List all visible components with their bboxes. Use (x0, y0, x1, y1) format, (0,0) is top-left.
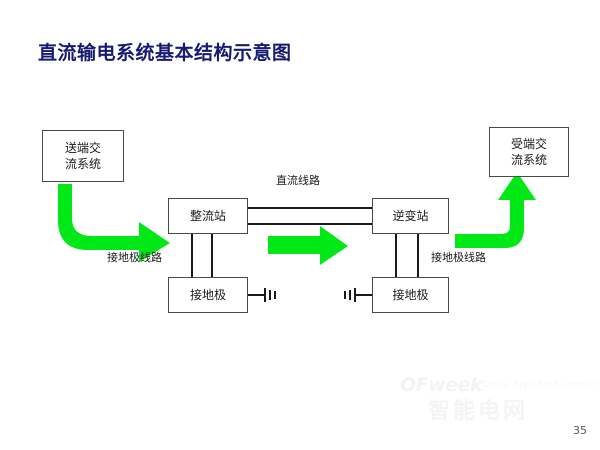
slide-canvas: 直流输电系统基本结构示意图 (0, 0, 600, 450)
box-receiving-ac-system-line1: 受端交 (511, 136, 547, 152)
label-ground-line-left: 接地极线路 (107, 249, 162, 265)
box-rectifier-station[interactable]: 整流站 (168, 198, 248, 234)
box-sending-ac-system-line2: 流系统 (65, 156, 101, 172)
page-number: 35 (573, 424, 587, 437)
box-rectifier-station-label: 整流站 (190, 208, 226, 224)
box-receiving-ac-system[interactable]: 受端交 流系统 (489, 127, 569, 177)
box-ground-electrode-right-label: 接地极 (392, 287, 428, 303)
box-ground-electrode-left-label: 接地极 (190, 287, 226, 303)
label-ground-line-right: 接地极线路 (431, 249, 486, 265)
box-sending-ac-system-line1: 送端交 (65, 140, 101, 156)
box-inverter-station-label: 逆变站 (392, 208, 428, 224)
box-ground-electrode-right[interactable]: 接地极 (372, 277, 449, 313)
box-ground-electrode-left[interactable]: 接地极 (168, 277, 248, 313)
box-receiving-ac-system-line2: 流系统 (511, 152, 547, 168)
earth-symbol-right (345, 288, 355, 302)
label-dc-line: 直流线路 (276, 172, 320, 188)
diagram-wires (0, 0, 600, 450)
box-sending-ac-system[interactable]: 送端交 流系统 (42, 130, 124, 182)
earth-symbol-left (265, 288, 275, 302)
box-inverter-station[interactable]: 逆变站 (372, 198, 449, 234)
